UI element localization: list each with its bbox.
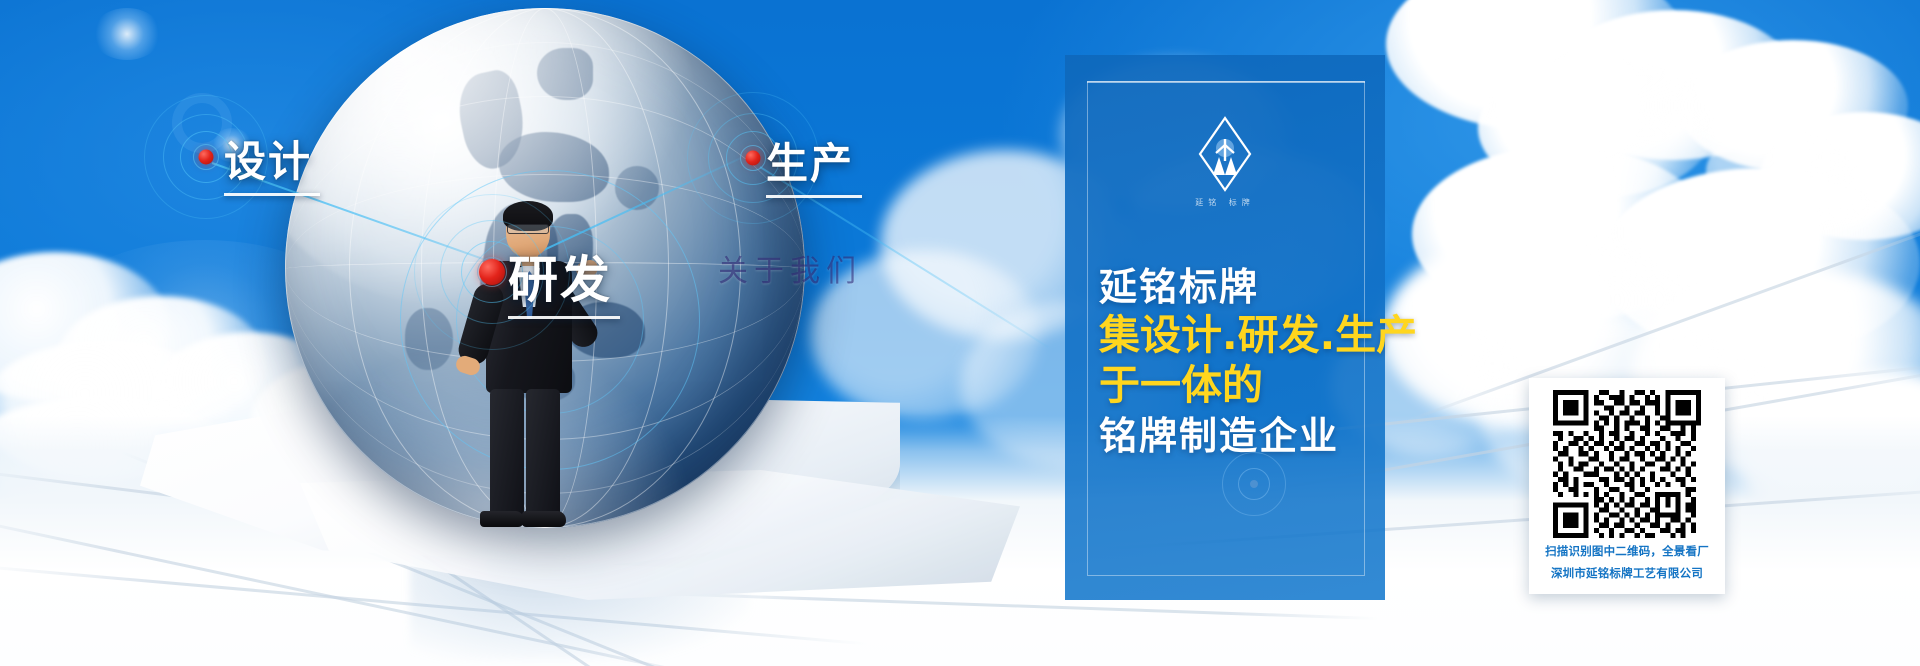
node-label-underline (224, 193, 320, 196)
panel-radar-echo-dot (1250, 480, 1258, 488)
node-label-underline (508, 316, 620, 319)
qr-caption-line2: 深圳市延铭标牌工艺有限公司 (1537, 565, 1717, 582)
person-left-leg (490, 389, 524, 515)
node-label-underline (766, 195, 862, 198)
location-marker-icon (746, 151, 761, 166)
watermark-text: 关于我们 (718, 246, 862, 290)
location-marker-icon (479, 259, 505, 285)
headline-block: 延铭标牌 集设计.研发.生产 于一体的 铭牌制造企业 (1099, 265, 1367, 459)
panel-top-rule (1087, 81, 1365, 83)
info-panel: 延铭 标牌 延铭标牌 集设计.研发.生产 于一体的 铭牌制造企业 (1065, 55, 1385, 600)
node-label-design[interactable]: 设计 (224, 128, 320, 196)
node-label-production[interactable]: 生产 (766, 130, 862, 198)
company-logo: 延铭 标牌 (1180, 115, 1270, 208)
node-label-design-text: 设计 (224, 137, 312, 186)
qr-code-icon (1553, 390, 1701, 538)
diamond-logo-icon (1197, 115, 1253, 193)
headline-tail: 铭牌制造企业 (1099, 414, 1367, 460)
headline-highlight-line1: 集设计.研发.生产 (1099, 310, 1367, 360)
promo-banner: 设计 研发 生产 关于我们 (0, 0, 1920, 666)
qr-card[interactable]: 扫描识别图中二维码，全景看厂 深圳市延铭标牌工艺有限公司 (1529, 378, 1725, 594)
node-label-production-text: 生产 (766, 139, 854, 188)
headline-brand: 延铭标牌 (1099, 265, 1367, 310)
node-label-research-text: 研发 (508, 251, 612, 309)
node-label-research[interactable]: 研发 (508, 240, 620, 319)
qr-caption-line1: 扫描识别图中二维码，全景看厂 (1537, 543, 1717, 560)
logo-caption: 延铭 标牌 (1180, 197, 1270, 208)
headline-highlight-line2: 于一体的 (1099, 360, 1367, 410)
person-right-leg (526, 389, 560, 515)
location-marker-icon (199, 150, 214, 165)
person-left-shoe (480, 511, 524, 527)
person-right-shoe (522, 511, 566, 527)
